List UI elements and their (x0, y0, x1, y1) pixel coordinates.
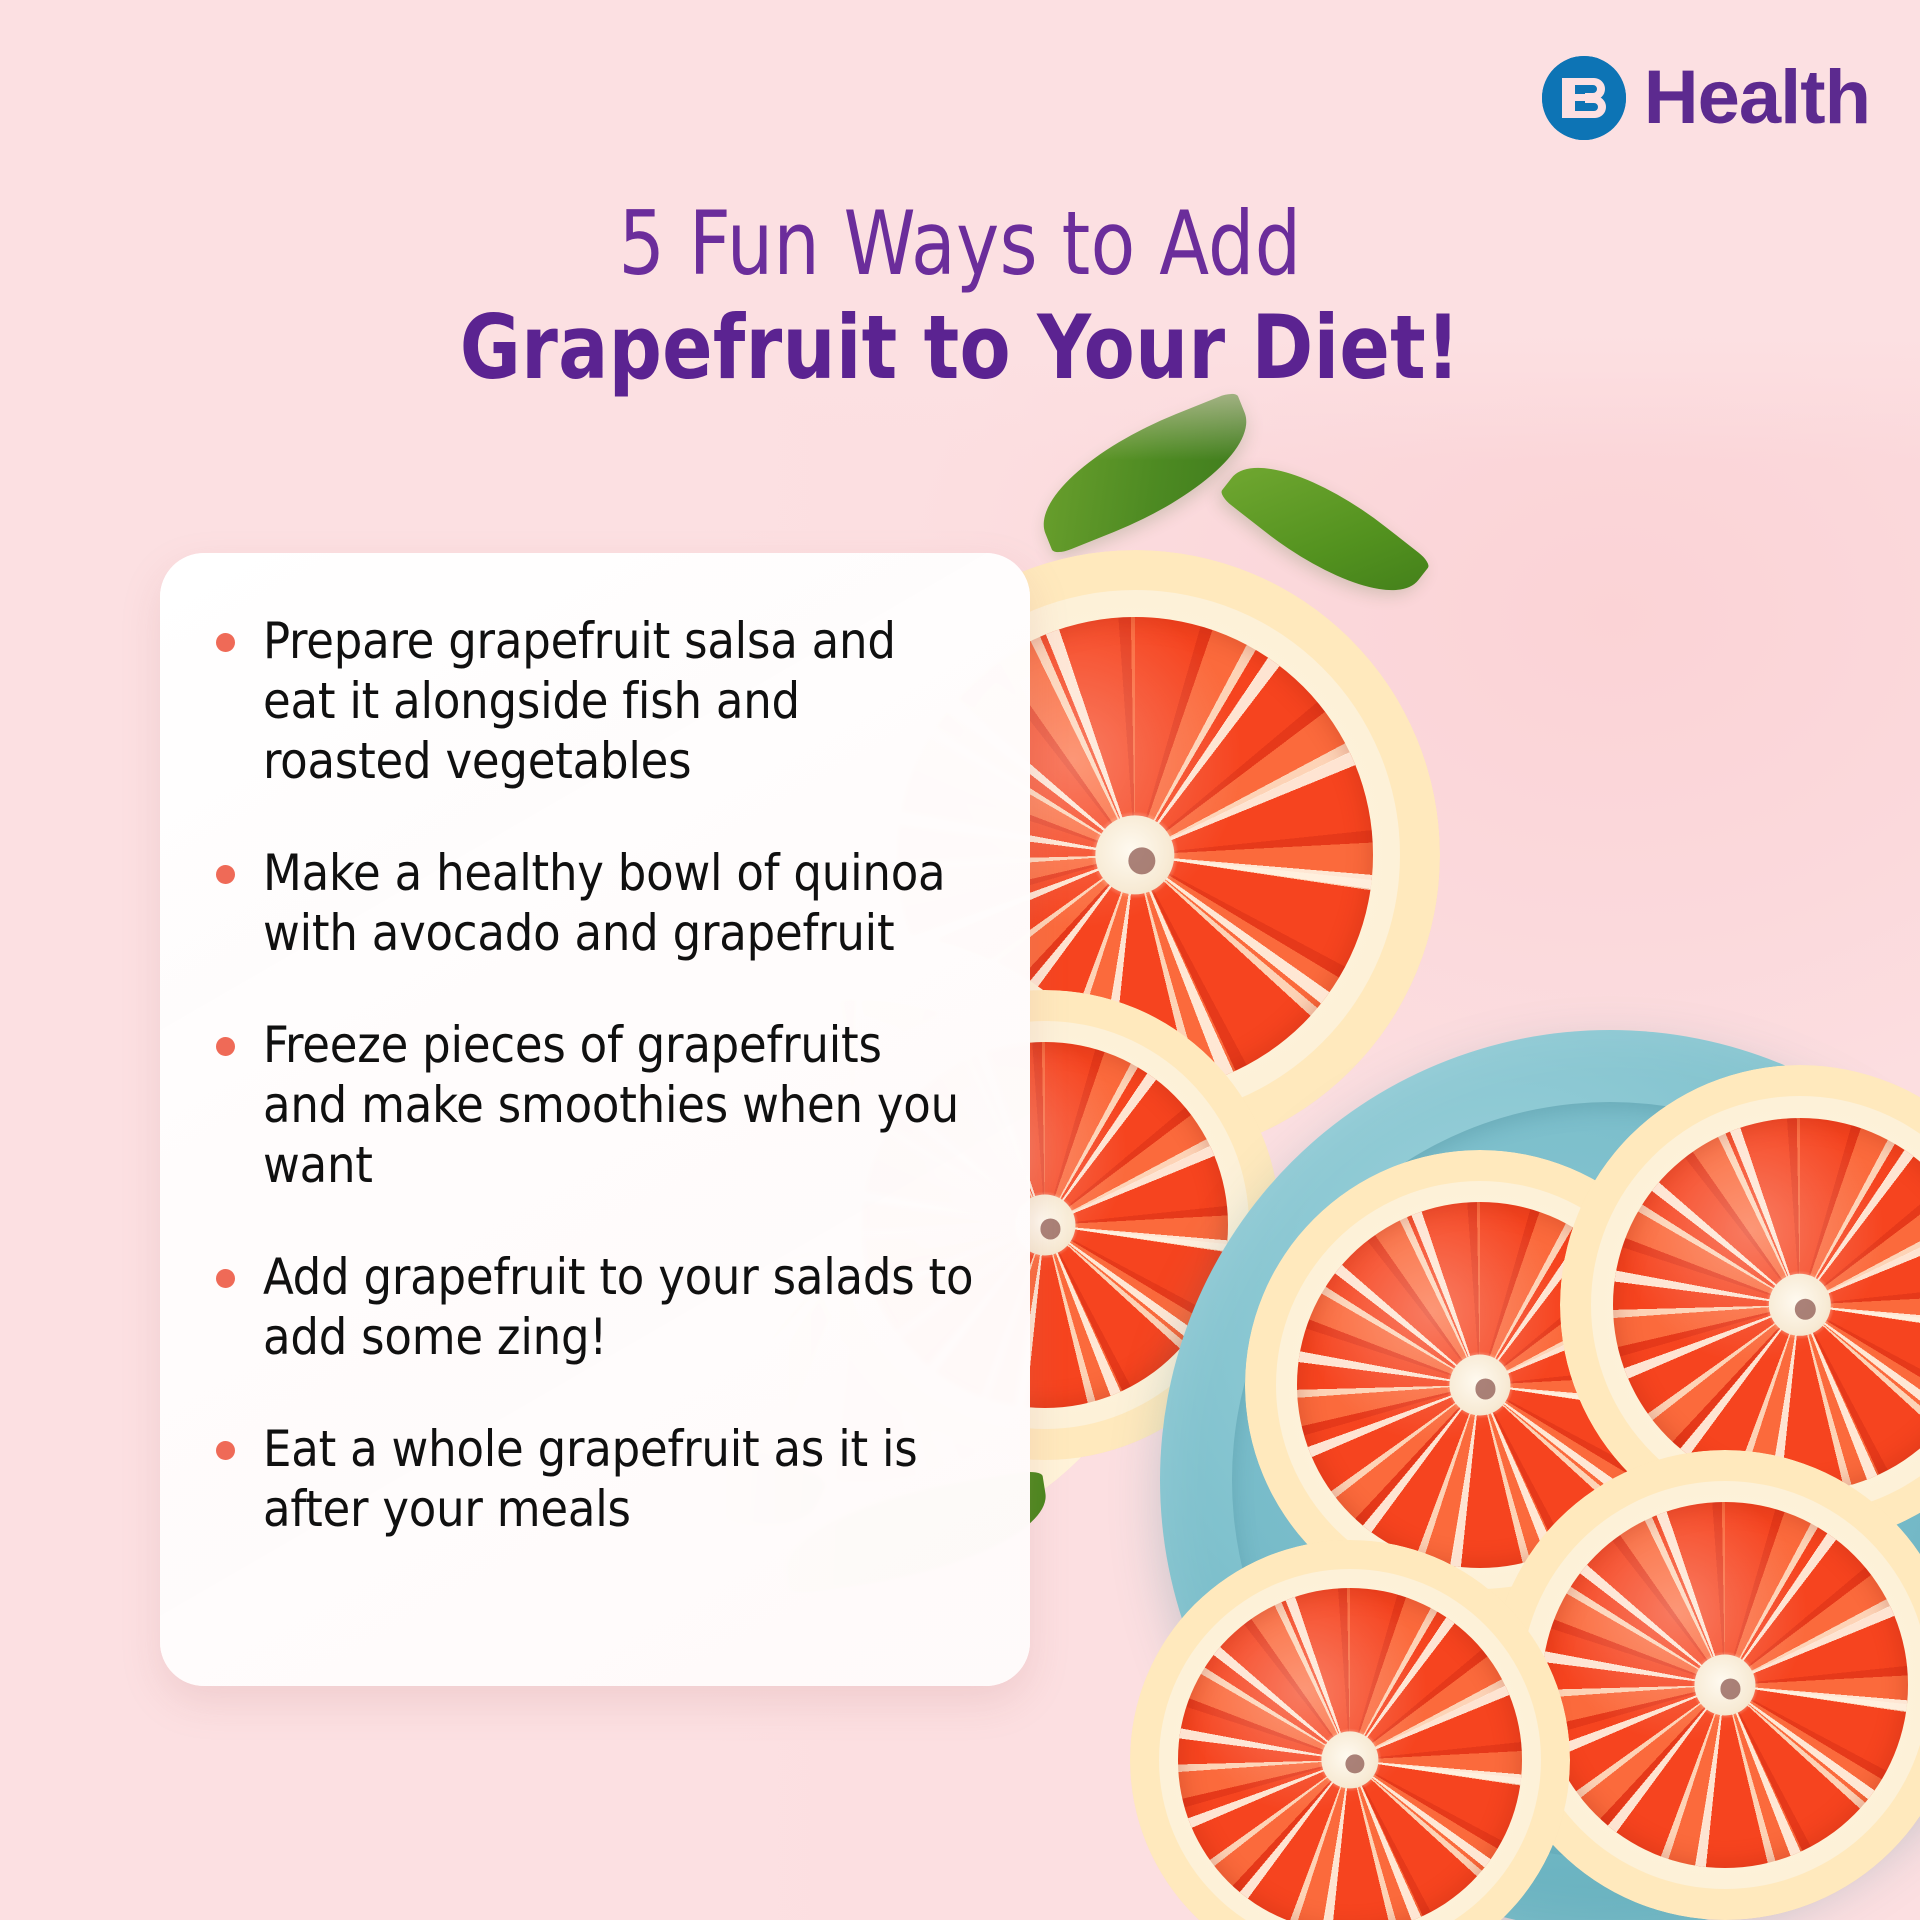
tips-list: Prepare grapefruit salsa and eat it alon… (160, 553, 1030, 1539)
tip-text: Eat a whole grapefruit as it is after yo… (263, 1419, 974, 1539)
tip-text: Add grapefruit to your salads to add som… (263, 1247, 974, 1367)
poster-canvas: Health 5 Fun Ways to Add Grapefruit to Y… (0, 0, 1920, 1920)
list-item: Add grapefruit to your salads to add som… (216, 1247, 974, 1367)
title-line-1: 5 Fun Ways to Add (77, 196, 1843, 291)
brand-logo[interactable]: Health (1542, 56, 1870, 140)
bajaj-b-circle-icon (1542, 56, 1626, 140)
list-item: Prepare grapefruit salsa and eat it alon… (216, 611, 974, 791)
bullet-dot-icon (216, 633, 235, 652)
tips-card: Prepare grapefruit salsa and eat it alon… (160, 553, 1030, 1686)
tip-text: Prepare grapefruit salsa and eat it alon… (263, 611, 974, 791)
bullet-dot-icon (216, 1269, 235, 1288)
bullet-dot-icon (216, 1441, 235, 1460)
bullet-dot-icon (216, 1037, 235, 1056)
list-item: Eat a whole grapefruit as it is after yo… (216, 1419, 974, 1539)
page-title: 5 Fun Ways to Add Grapefruit to Your Die… (0, 196, 1920, 398)
tip-text: Make a healthy bowl of quinoa with avoca… (263, 843, 974, 963)
brand-wordmark: Health (1644, 60, 1870, 136)
list-item: Freeze pieces of grapefruits and make sm… (216, 1015, 974, 1195)
leaf-icon (1022, 390, 1267, 556)
bullet-dot-icon (216, 865, 235, 884)
tip-text: Freeze pieces of grapefruits and make sm… (263, 1015, 974, 1195)
title-line-2: Grapefruit to Your Diet! (58, 299, 1863, 398)
list-item: Make a healthy bowl of quinoa with avoca… (216, 843, 974, 963)
